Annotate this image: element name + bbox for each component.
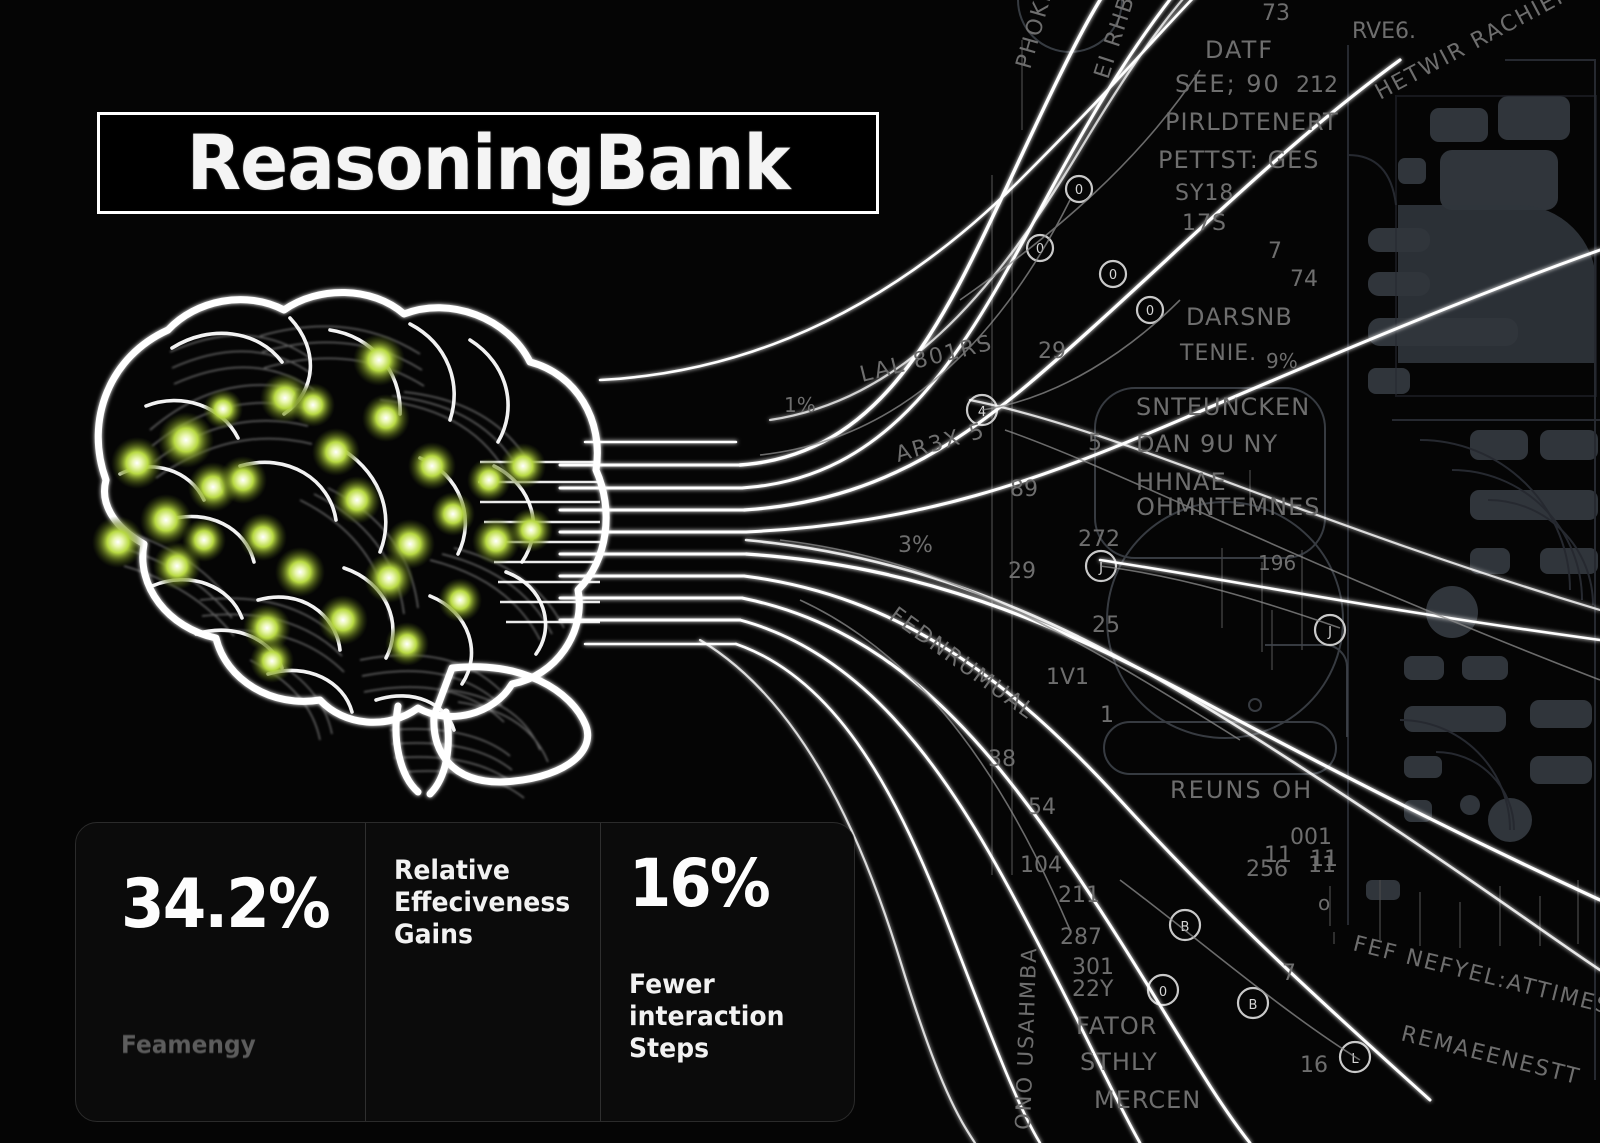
svg-text:DATF: DATF <box>1205 36 1274 64</box>
svg-text:PIRLDTENERT: PIRLDTENERT <box>1165 108 1339 136</box>
svg-text:MERCEN: MERCEN <box>1094 1086 1201 1114</box>
svg-text:287: 287 <box>1060 925 1102 950</box>
svg-text:B: B <box>1249 998 1258 1013</box>
stats-panel: 34.2% Feamengy Relative Effeciveness Gai… <box>75 822 855 1122</box>
svg-text:J: J <box>1098 561 1103 576</box>
svg-text:0: 0 <box>1075 183 1083 198</box>
stat-label-line-1: Relative <box>394 855 585 887</box>
stat-steps-line-3: Steps <box>629 1033 839 1065</box>
svg-text:FATOR: FATOR <box>1076 1012 1157 1040</box>
svg-text:73: 73 <box>1262 1 1290 26</box>
svg-text:J: J <box>1327 625 1332 640</box>
svg-text:301: 301 <box>1072 955 1114 980</box>
svg-text:22Y: 22Y <box>1072 977 1114 1002</box>
svg-text:7: 7 <box>1268 239 1282 264</box>
svg-text:211: 211 <box>1058 883 1100 908</box>
stat-block-effectiveness: 34.2% Feamengy <box>76 823 365 1121</box>
stat-block-interaction-steps: 16% Fewer interaction Steps <box>600 823 854 1121</box>
title-box: ReasoningBank <box>97 112 879 214</box>
stat-label-line-3: Gains <box>394 919 585 951</box>
svg-text:29: 29 <box>1038 339 1066 364</box>
stat-steps-line-1: Fewer <box>629 969 839 1001</box>
svg-text:RVE6.: RVE6. <box>1352 19 1416 44</box>
svg-text:29: 29 <box>1008 559 1036 584</box>
poster-canvas: 00 00 4J JB 0B L <box>0 0 1600 1143</box>
svg-text:38: 38 <box>988 747 1016 772</box>
svg-text:HHNAE: HHNAE <box>1136 468 1227 496</box>
svg-text:25: 25 <box>1092 613 1120 638</box>
svg-text:1%: 1% <box>784 393 816 417</box>
svg-text:17S: 17S <box>1182 211 1227 236</box>
svg-text:7: 7 <box>1282 961 1296 986</box>
svg-text:o: o <box>1318 891 1330 915</box>
svg-text:74: 74 <box>1290 267 1318 292</box>
svg-text:PETTST: GES: PETTST: GES <box>1158 146 1320 174</box>
stat-value-steps: 16% <box>629 851 836 917</box>
svg-text:0: 0 <box>1159 985 1167 1000</box>
svg-text:0: 0 <box>1146 304 1154 319</box>
stat-value-effectiveness: 34.2% <box>121 871 346 939</box>
svg-text:SY18: SY18 <box>1175 181 1234 206</box>
stat-faint-label: Feamengy <box>121 1030 256 1059</box>
stat-block-label-group: Relative Effeciveness Gains <box>365 823 599 1121</box>
svg-text:DARSNB: DARSNB <box>1186 303 1293 331</box>
svg-text:212: 212 <box>1296 73 1338 98</box>
svg-text:TENIE.: TENIE. <box>1179 341 1257 366</box>
svg-text:1: 1 <box>1100 703 1114 728</box>
svg-text:11: 11 <box>1264 843 1292 868</box>
svg-text:89: 89 <box>1010 477 1038 502</box>
page-title: ReasoningBank <box>187 125 790 201</box>
svg-text:196: 196 <box>1258 551 1296 575</box>
svg-text:STHLY: STHLY <box>1080 1048 1158 1076</box>
svg-text:3%: 3% <box>898 533 933 558</box>
svg-text:1V1: 1V1 <box>1046 665 1089 690</box>
svg-text:REUNS OH: REUNS OH <box>1170 776 1313 804</box>
svg-text:104: 104 <box>1020 853 1062 878</box>
svg-text:54: 54 <box>1028 795 1056 820</box>
svg-text:16: 16 <box>1300 1053 1328 1078</box>
svg-text:OHMNTEMNES: OHMNTEMNES <box>1136 493 1320 521</box>
svg-text:SEE; 90: SEE; 90 <box>1175 70 1281 98</box>
svg-text:DAN 9U NY: DAN 9U NY <box>1136 430 1278 458</box>
svg-text:272: 272 <box>1078 527 1120 552</box>
svg-text:9%: 9% <box>1266 349 1298 373</box>
svg-text:5: 5 <box>1088 431 1102 456</box>
svg-text:SNTEUNCKEN: SNTEUNCKEN <box>1136 393 1310 421</box>
svg-text:11: 11 <box>1310 847 1338 872</box>
stat-label-line-2: Effeciveness <box>394 887 585 919</box>
stat-steps-line-2: interaction <box>629 1001 839 1033</box>
svg-text:0: 0 <box>1109 268 1117 283</box>
